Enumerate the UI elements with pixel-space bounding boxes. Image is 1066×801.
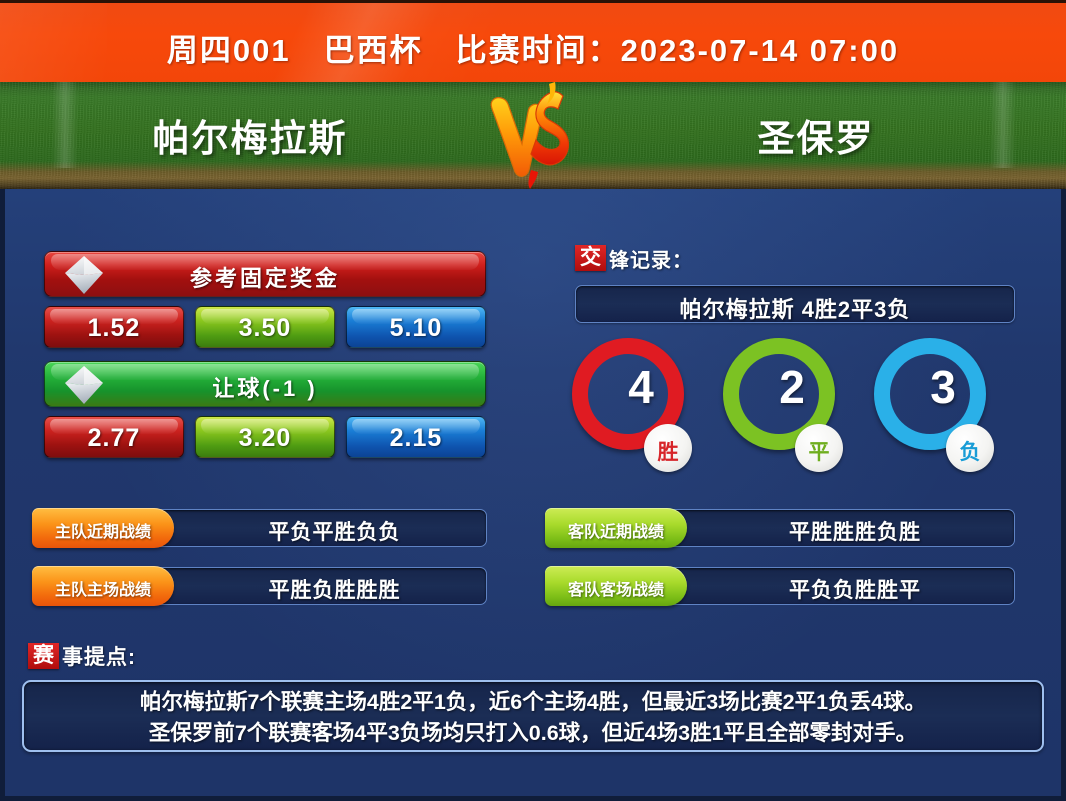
h2h-ring-loss: 3 负 (874, 338, 1002, 488)
fixed-odds-away-button[interactable]: 5.10 (346, 306, 486, 348)
match-preview-page: 周四001 巴西杯 比赛时间：2023-07-14 07:00 帕尔梅拉斯 圣保… (0, 0, 1066, 801)
away-venue-form-value-box: 平负负胜胜平 (655, 567, 1015, 605)
home-venue-form-value: 平胜负胜胜胜 (183, 574, 486, 604)
away-venue-form-value: 平负负胜胜平 (696, 574, 1014, 604)
handicap-odds-away-value: 2.15 (347, 424, 485, 453)
h2h-win-count: 4 (606, 360, 676, 414)
page-title: 周四001 巴西杯 比赛时间：2023-07-14 07:00 (0, 25, 1066, 70)
fixed-odds-away-value: 5.10 (347, 314, 485, 343)
h2h-draw-badge: 平 (795, 424, 843, 472)
home-recent-form-value: 平负平胜负负 (183, 516, 486, 546)
h2h-loss-badge: 负 (946, 424, 994, 472)
h2h-title-text: 锋记录： (609, 244, 693, 273)
h2h-badge: 交 (575, 245, 606, 271)
h2h-draw-label: 平 (795, 436, 843, 466)
handicap-odds-home-value: 2.77 (45, 424, 183, 453)
away-team-name: 圣保罗 (566, 108, 1066, 162)
h2h-summary-bar: 帕尔梅拉斯 4胜2平3负 (575, 285, 1015, 323)
handicap-odds-row: 2.77 3.20 2.15 (44, 416, 486, 458)
away-recent-form-row: 平胜胜胜负胜 客队近期战绩 (545, 508, 1015, 548)
handicap-odds-header: 让球(-1 ) (44, 361, 486, 407)
h2h-draw-count: 2 (757, 360, 827, 414)
away-venue-form-tab[interactable]: 客队客场战绩 (545, 566, 687, 606)
tips-badge: 赛 (28, 643, 59, 669)
tips-line-1: 帕尔梅拉斯7个联赛主场4胜2平1负，近6个主场4胜，但最近3场比赛2平1负丢4球… (24, 687, 1042, 718)
handicap-odds-title: 让球(-1 ) (45, 371, 485, 403)
home-venue-form-value-box: 平胜负胜胜胜 (142, 567, 487, 605)
away-recent-form-value-box: 平胜胜胜负胜 (655, 509, 1015, 547)
away-recent-form-tab[interactable]: 客队近期战绩 (545, 508, 687, 548)
tips-title-text: 事提点: (62, 641, 136, 671)
handicap-odds-draw-value: 3.20 (196, 424, 334, 453)
home-venue-form-row: 平胜负胜胜胜 主队主场战绩 (32, 566, 487, 606)
tips-line-2: 圣保罗前7个联赛客场4平3负场均只打入0.6球，但近4场3胜1平且全部零封对手。 (24, 718, 1042, 749)
handicap-odds-draw-button[interactable]: 3.20 (195, 416, 335, 458)
h2h-win-badge: 胜 (644, 424, 692, 472)
header-bar: 周四001 巴西杯 比赛时间：2023-07-14 07:00 (0, 0, 1066, 82)
handicap-title-suffix: ) (298, 376, 317, 401)
handicap-title-value: -1 (273, 376, 299, 401)
away-venue-form-label: 客队客场战绩 (545, 576, 687, 600)
handicap-odds-home-button[interactable]: 2.77 (44, 416, 184, 458)
home-recent-form-value-box: 平负平胜负负 (142, 509, 487, 547)
h2h-loss-count: 3 (908, 360, 978, 414)
away-venue-form-row: 平负负胜胜平 客队客场战绩 (545, 566, 1015, 606)
home-venue-form-label: 主队主场战绩 (32, 576, 174, 600)
away-recent-form-value: 平胜胜胜负胜 (696, 516, 1014, 546)
h2h-summary-text: 帕尔梅拉斯 4胜2平3负 (576, 292, 1014, 324)
vs-icon (481, 78, 585, 190)
fixed-odds-title: 参考固定奖金 (45, 261, 485, 293)
fixed-odds-row: 1.52 3.50 5.10 (44, 306, 486, 348)
h2h-title: 交 锋记录： (575, 243, 693, 273)
home-venue-form-tab[interactable]: 主队主场战绩 (32, 566, 174, 606)
tips-title: 赛 事提点: (28, 641, 136, 671)
fixed-odds-draw-button[interactable]: 3.50 (195, 306, 335, 348)
tips-box: 帕尔梅拉斯7个联赛主场4胜2平1负，近6个主场4胜，但最近3场比赛2平1负丢4球… (22, 680, 1044, 752)
home-team-name: 帕尔梅拉斯 (0, 108, 500, 162)
home-recent-form-tab[interactable]: 主队近期战绩 (32, 508, 174, 548)
fixed-odds-draw-value: 3.50 (196, 314, 334, 343)
diamond-icon (63, 364, 105, 406)
fixed-odds-home-value: 1.52 (45, 314, 183, 343)
h2h-loss-label: 负 (946, 436, 994, 466)
fixed-odds-home-button[interactable]: 1.52 (44, 306, 184, 348)
home-recent-form-label: 主队近期战绩 (32, 518, 174, 542)
h2h-rings: 4 胜 2 平 3 负 (560, 338, 1030, 488)
h2h-win-label: 胜 (644, 436, 692, 466)
home-recent-form-row: 平负平胜负负 主队近期战绩 (32, 508, 487, 548)
away-recent-form-label: 客队近期战绩 (545, 518, 687, 542)
handicap-title-prefix: 让球( (212, 376, 272, 401)
fixed-odds-header: 参考固定奖金 (44, 251, 486, 297)
h2h-ring-draw: 2 平 (723, 338, 851, 488)
diamond-icon (63, 254, 105, 296)
h2h-ring-win: 4 胜 (572, 338, 700, 488)
handicap-odds-away-button[interactable]: 2.15 (346, 416, 486, 458)
